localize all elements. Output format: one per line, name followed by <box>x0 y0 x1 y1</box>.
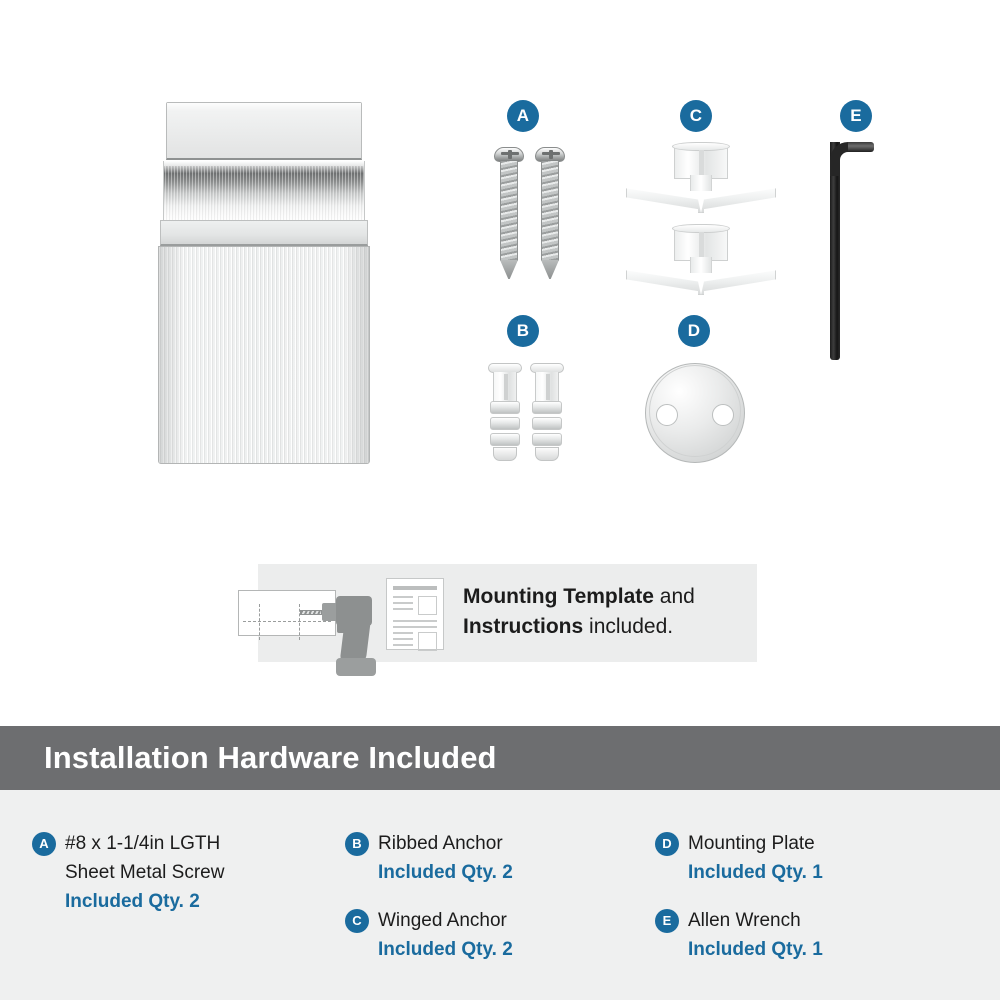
screw-icon <box>535 147 565 279</box>
winged-anchor-collar <box>674 227 728 261</box>
anchor-rib <box>532 433 562 446</box>
callout-c-winged-anchors: C <box>618 100 788 290</box>
product-bevel <box>160 220 368 246</box>
drill-battery <box>336 658 376 676</box>
anchor-rib <box>490 401 520 414</box>
anchor-foot <box>493 447 517 461</box>
list-item-qty: Included Qty. 1 <box>688 935 823 964</box>
ribbed-anchor-icon <box>488 363 522 461</box>
list-item-qty: Included Qty. 1 <box>688 858 823 887</box>
list-item: C Winged Anchor Included Qty. 2 <box>345 906 513 964</box>
list-item-text: Allen Wrench Included Qty. 1 <box>688 906 823 964</box>
list-item-name-line-1: Ribbed Anchor <box>378 829 513 858</box>
callout-b-ribbed-anchors: B <box>473 315 583 475</box>
doc-line <box>393 638 413 640</box>
list-item-qty: Included Qty. 2 <box>378 935 513 964</box>
doc-line <box>393 644 413 646</box>
list-item-name-line-1: Allen Wrench <box>688 906 823 935</box>
list-item-name-line-1: Mounting Plate <box>688 829 823 858</box>
installation-hardware-infographic: A C <box>0 0 1000 1000</box>
product-body <box>158 246 370 464</box>
template-guide-line <box>243 621 331 622</box>
plate-hole <box>656 404 678 426</box>
anchor-neck <box>535 372 559 402</box>
list-badge-b: B <box>345 832 369 856</box>
list-item-name-line-1: Winged Anchor <box>378 906 513 935</box>
screw-shaft <box>541 161 559 261</box>
screw-head <box>494 147 524 162</box>
mounting-template-rest-2: included. <box>583 615 673 638</box>
list-item: B Ribbed Anchor Included Qty. 2 <box>345 829 513 887</box>
doc-line <box>393 596 413 598</box>
list-item-qty: Included Qty. 2 <box>65 887 224 916</box>
list-badge-a: A <box>32 832 56 856</box>
callout-badge-d: D <box>678 315 710 347</box>
page-title: Installation Hardware Included <box>0 740 497 776</box>
doc-text-column <box>393 596 413 615</box>
section-header-bar: Installation Hardware Included <box>0 726 1000 790</box>
list-item: A #8 x 1-1/4in LGTH Sheet Metal Screw In… <box>32 829 224 916</box>
list-item: E Allen Wrench Included Qty. 1 <box>655 906 823 964</box>
doc-row <box>393 632 437 651</box>
list-badge-d: D <box>655 832 679 856</box>
callout-badge-b: B <box>507 315 539 347</box>
product-hero-image <box>152 102 370 464</box>
screw-tip <box>541 260 559 279</box>
mounting-template-rest-1: and <box>654 585 695 608</box>
doc-row <box>393 596 437 615</box>
callout-d-mounting-plate: D <box>640 315 770 475</box>
product-parts-area: A C <box>0 0 1000 545</box>
doc-line <box>393 632 413 634</box>
product-top-plate <box>166 102 362 160</box>
allen-wrench-icon <box>818 118 874 360</box>
callout-badge-a: A <box>507 100 539 132</box>
list-item: D Mounting Plate Included Qty. 1 <box>655 829 823 887</box>
mounting-template-text: Mounting Template and Instructions inclu… <box>463 582 753 642</box>
doc-image-box <box>418 596 437 615</box>
anchor-foot <box>535 447 559 461</box>
screw-tip <box>500 260 518 279</box>
product-recess-band <box>163 161 365 223</box>
template-guide-line <box>259 604 260 640</box>
doc-line <box>393 620 437 622</box>
screw-icon <box>494 147 524 279</box>
anchor-rib <box>532 417 562 430</box>
anchor-neck <box>493 372 517 402</box>
callout-a-screws: A <box>473 100 583 295</box>
mounting-template-line-2: Instructions included. <box>463 612 753 642</box>
mounting-template-line-1: Mounting Template and <box>463 582 753 612</box>
winged-anchor-icon <box>626 227 776 295</box>
anchor-rib <box>532 401 562 414</box>
list-item-text: Ribbed Anchor Included Qty. 2 <box>378 829 513 887</box>
list-item-text: Winged Anchor Included Qty. 2 <box>378 906 513 964</box>
list-item-name-line-2: Sheet Metal Screw <box>65 858 224 887</box>
doc-line <box>393 602 413 604</box>
winged-anchor-stem <box>690 175 712 191</box>
plate-hole <box>712 404 734 426</box>
mounting-template-band: Mounting Template and Instructions inclu… <box>258 564 757 662</box>
doc-image-box <box>418 632 437 651</box>
instructions-document-icon <box>386 578 444 650</box>
list-badge-c: C <box>345 909 369 933</box>
list-item-text: #8 x 1-1/4in LGTH Sheet Metal Screw Incl… <box>65 829 224 916</box>
callout-e-allen-wrench: E <box>810 100 920 370</box>
ribbed-anchor-icon <box>530 363 564 461</box>
mounting-template-bold-1: Mounting Template <box>463 585 654 608</box>
mounting-template-bold-2: Instructions <box>463 615 583 638</box>
drill-template-icon <box>238 582 358 644</box>
hardware-list: A #8 x 1-1/4in LGTH Sheet Metal Screw In… <box>0 790 1000 1000</box>
winged-anchor-stem <box>690 257 712 273</box>
wrench-short-leg <box>848 142 874 152</box>
callout-badge-c: C <box>680 100 712 132</box>
list-badge-e: E <box>655 909 679 933</box>
doc-header-line <box>393 586 437 590</box>
list-item-name-line-1: #8 x 1-1/4in LGTH <box>65 829 224 858</box>
doc-text-column <box>393 632 413 651</box>
screw-head <box>535 147 565 162</box>
screw-shaft <box>500 161 518 261</box>
list-item-qty: Included Qty. 2 <box>378 858 513 887</box>
winged-anchor-collar <box>674 145 728 179</box>
doc-line <box>393 608 413 610</box>
winged-anchor-icon <box>626 145 776 213</box>
doc-line <box>393 626 437 628</box>
anchor-rib <box>490 417 520 430</box>
mounting-plate-icon <box>645 363 745 463</box>
anchor-rib <box>490 433 520 446</box>
list-item-text: Mounting Plate Included Qty. 1 <box>688 829 823 887</box>
